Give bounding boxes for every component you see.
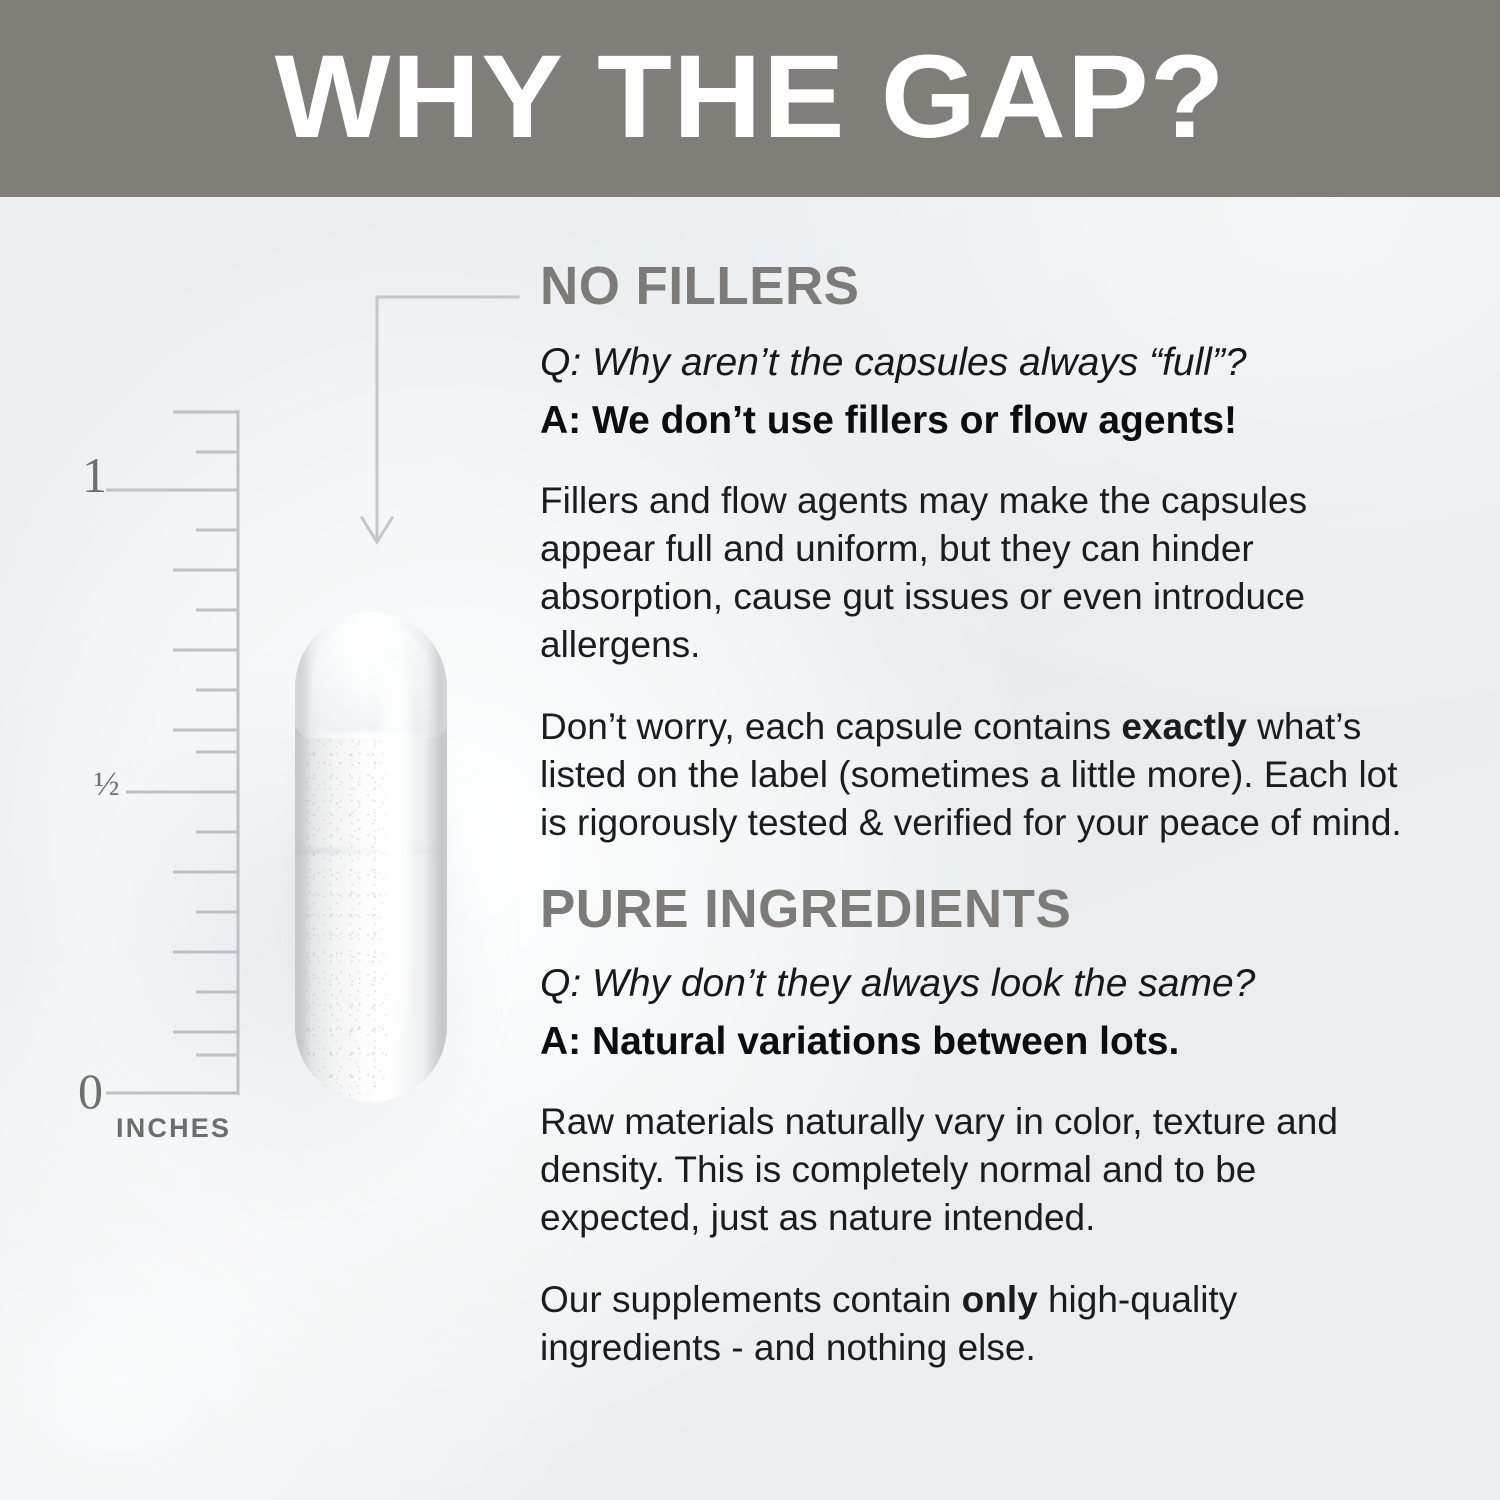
paragraph-only-quality: Our supplements contain only high-qualit…	[540, 1276, 1420, 1372]
capsule-air-gap	[295, 612, 447, 738]
section-heading-no-fillers: NO FILLERS	[540, 258, 1412, 315]
callout-arrow	[360, 282, 540, 562]
answer-pure-ingredients: A: Natural variations between lots.	[540, 1020, 1430, 1064]
section-no-fillers: NO FILLERS Q: Why aren’t the capsules al…	[540, 258, 1430, 847]
header-band: WHY THE GAP?	[0, 0, 1500, 197]
ruler-label-one: 1	[82, 450, 107, 500]
ruler-svg	[60, 390, 260, 1180]
question-no-fillers: Q: Why aren’t the capsules always “full”…	[540, 341, 1430, 385]
capsule-powder-fill	[295, 722, 447, 1102]
capsule-air-gap-inner	[311, 620, 431, 732]
question-pure-ingredients: Q: Why don’t they always look the same?	[540, 962, 1430, 1006]
capsule-shell	[295, 612, 447, 1102]
infographic-page: WHY THE GAP?	[0, 0, 1500, 1500]
paragraph-fillers-effects: Fillers and flow agents may make the cap…	[540, 477, 1420, 669]
capsule-edge-shade-right	[429, 622, 445, 1092]
capsule-seam	[295, 848, 447, 854]
capsule-edge-shade-left	[297, 622, 311, 1092]
capsule-powder-texture	[305, 724, 389, 1100]
section-heading-pure-ingredients: PURE INGREDIENTS	[540, 881, 1412, 938]
ruler-scale: 1 ½ 0 INCHES	[60, 390, 260, 1180]
arrow-icon	[360, 282, 540, 562]
content-column: NO FILLERS Q: Why aren’t the capsules al…	[540, 258, 1430, 1406]
answer-no-fillers: A: We don’t use fillers or flow agents!	[540, 399, 1430, 443]
capsule-specular-highlight	[383, 642, 409, 1072]
paragraph-exact-contents: Don’t worry, each capsule contains exact…	[540, 703, 1420, 847]
paragraph-natural-variation: Raw materials naturally vary in color, t…	[540, 1098, 1420, 1242]
ruler-label-half: ½	[94, 768, 120, 802]
page-title: WHY THE GAP?	[274, 38, 1225, 160]
ruler-label-zero: 0	[78, 1066, 103, 1116]
section-pure-ingredients: PURE INGREDIENTS Q: Why don’t they alway…	[540, 881, 1430, 1372]
ruler-unit-label: INCHES	[116, 1115, 231, 1142]
capsule-image	[295, 612, 447, 1102]
